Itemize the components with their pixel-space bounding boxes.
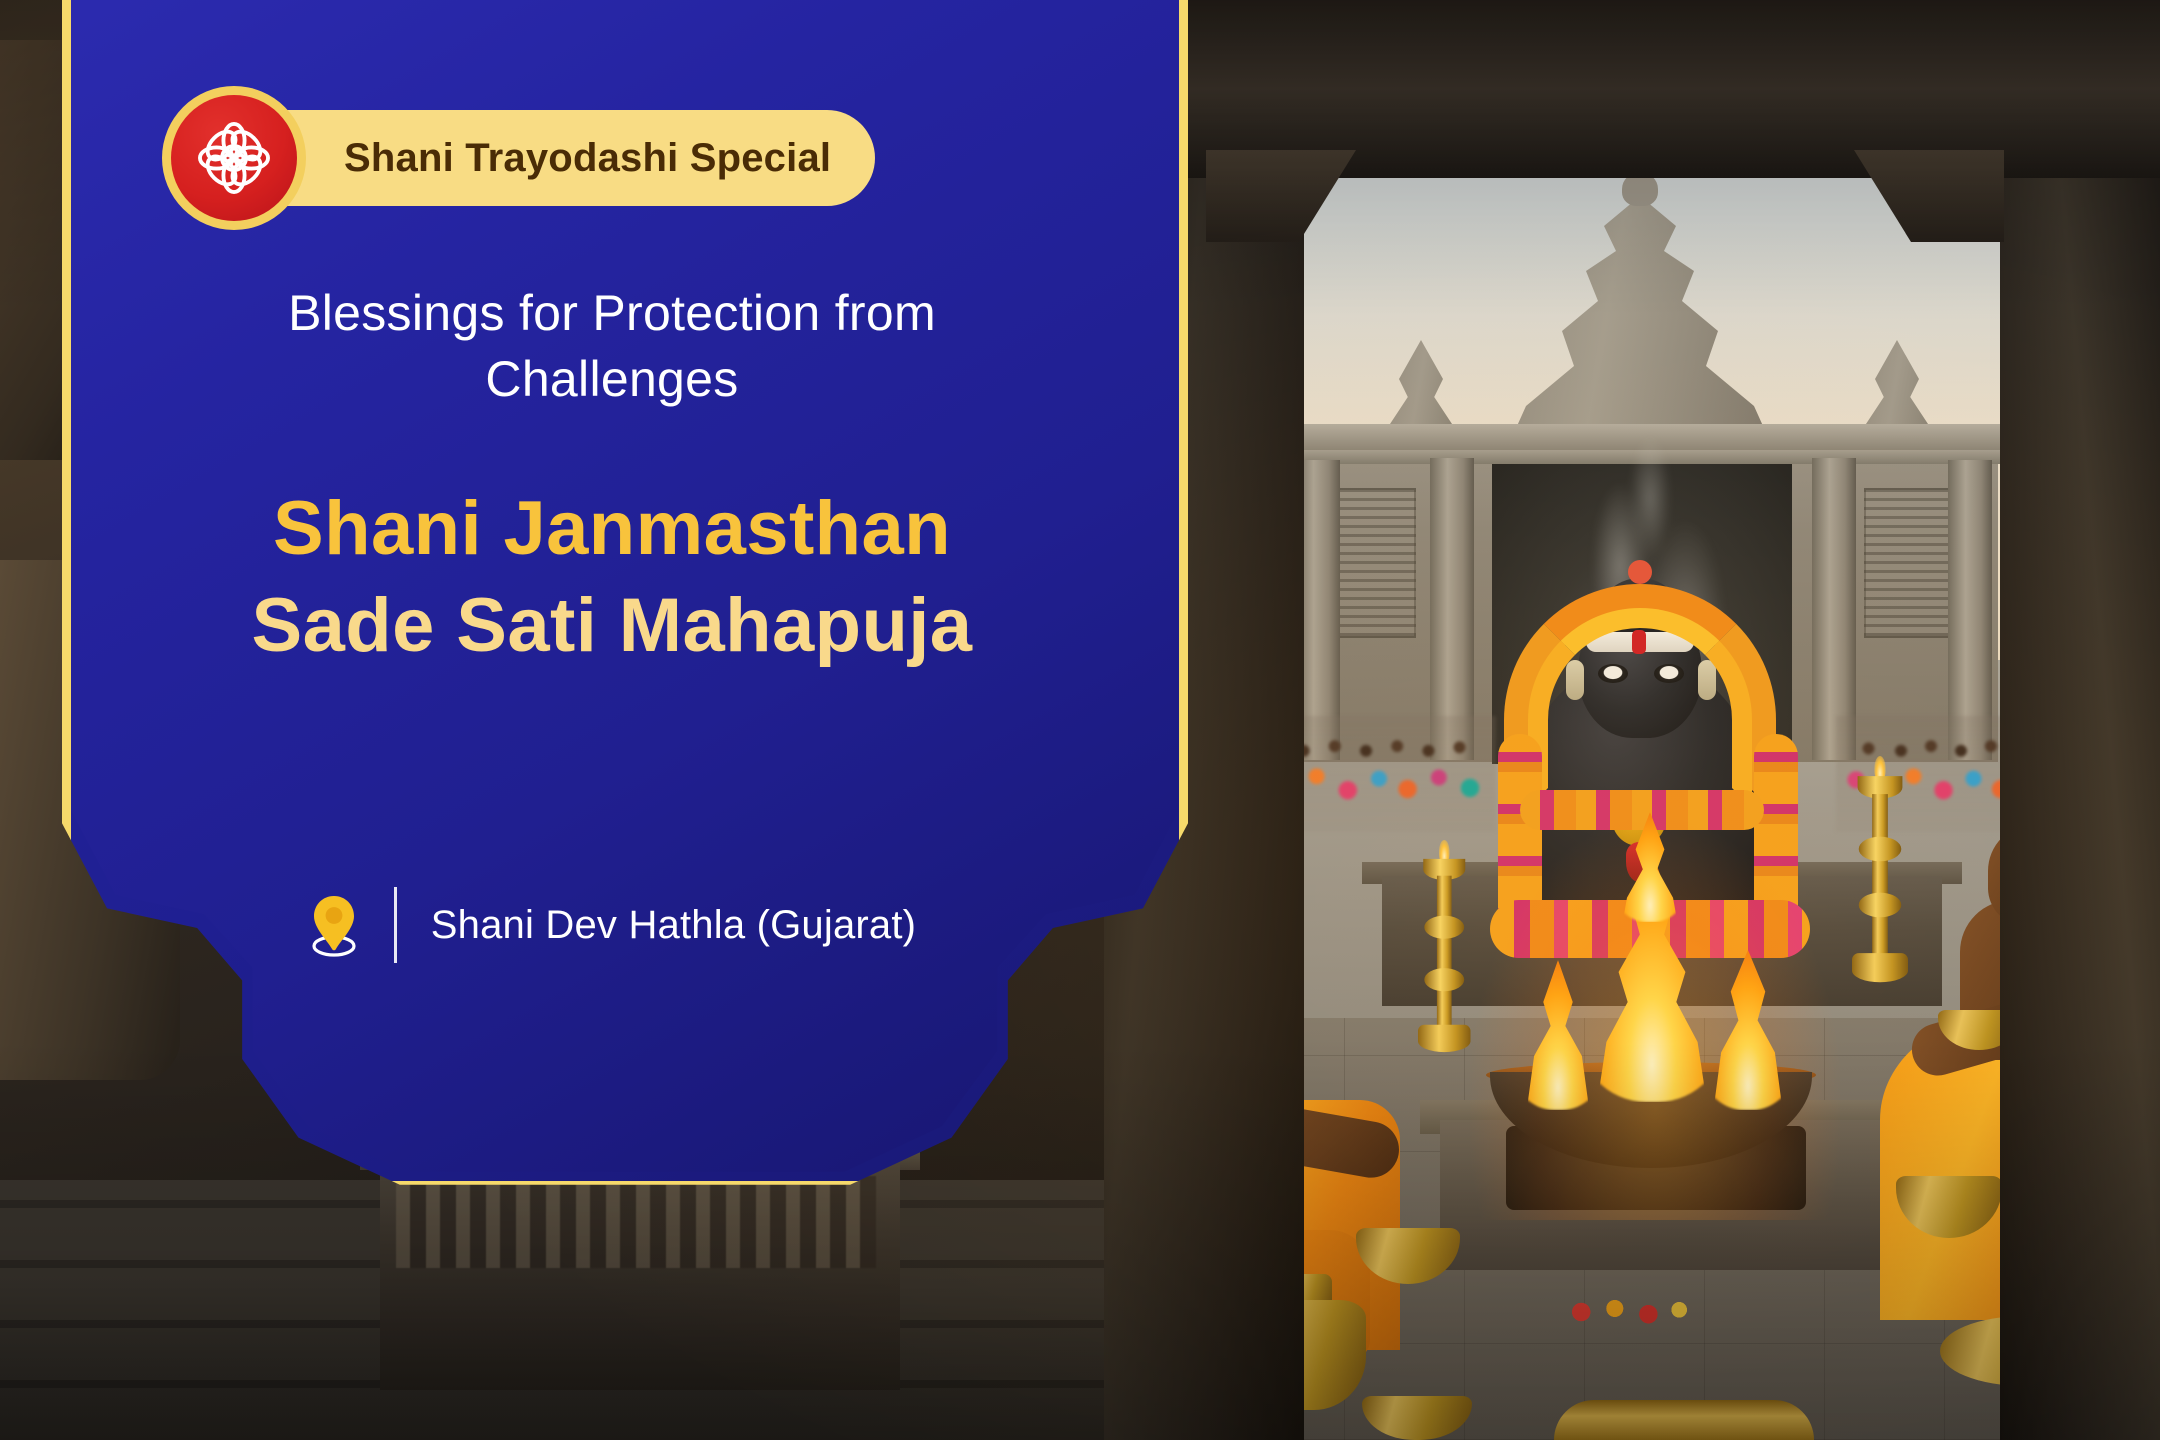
- lotus-mandala-icon: [188, 112, 280, 204]
- doorway-column-right: [2000, 0, 2160, 1440]
- brand-logo-disc: [171, 95, 297, 221]
- temple-pillar-2: [1430, 458, 1474, 760]
- lamp-stem: [1437, 876, 1452, 1033]
- crown-ornament-icon: [1628, 560, 1652, 584]
- info-panel: Shani Trayodashi Special: [62, 0, 1188, 1190]
- page-title: Shani Janmasthan Sade Sati Mahapuja: [162, 480, 1062, 675]
- lamp-foot: [1852, 953, 1908, 982]
- poster-canvas: Shani Trayodashi Special: [0, 0, 2160, 1440]
- special-badge-label: Shani Trayodashi Special: [214, 110, 875, 206]
- lamp-stem: [1872, 794, 1888, 962]
- location-label: Shani Dev Hathla (Gujarat): [431, 903, 916, 948]
- lamp-knob-lower: [1424, 968, 1464, 991]
- location-row: Shani Dev Hathla (Gujarat): [172, 880, 1052, 970]
- temple-pillar-4: [1948, 460, 1992, 760]
- location-pin-icon: [308, 892, 360, 958]
- lamp-knob-upper: [1859, 837, 1902, 862]
- page-title-line-1: Shani Janmasthan: [162, 480, 1062, 577]
- location-divider: [394, 887, 397, 963]
- lamp-knob-lower: [1859, 893, 1902, 918]
- page-title-line-2: Sade Sati Mahapuja: [162, 577, 1062, 674]
- brass-large-bowl: [1554, 1400, 1814, 1440]
- lamp-knob-upper: [1424, 916, 1464, 939]
- offering-tray-contents: [1556, 1290, 1696, 1334]
- temple-pillar-3: [1812, 458, 1856, 760]
- brand-logo[interactable]: [162, 86, 306, 230]
- panel-subtitle: Blessings for Protection from Challenges: [172, 280, 1052, 412]
- marigold-garland-mid: [1520, 790, 1764, 830]
- lamp-foot: [1418, 1025, 1471, 1052]
